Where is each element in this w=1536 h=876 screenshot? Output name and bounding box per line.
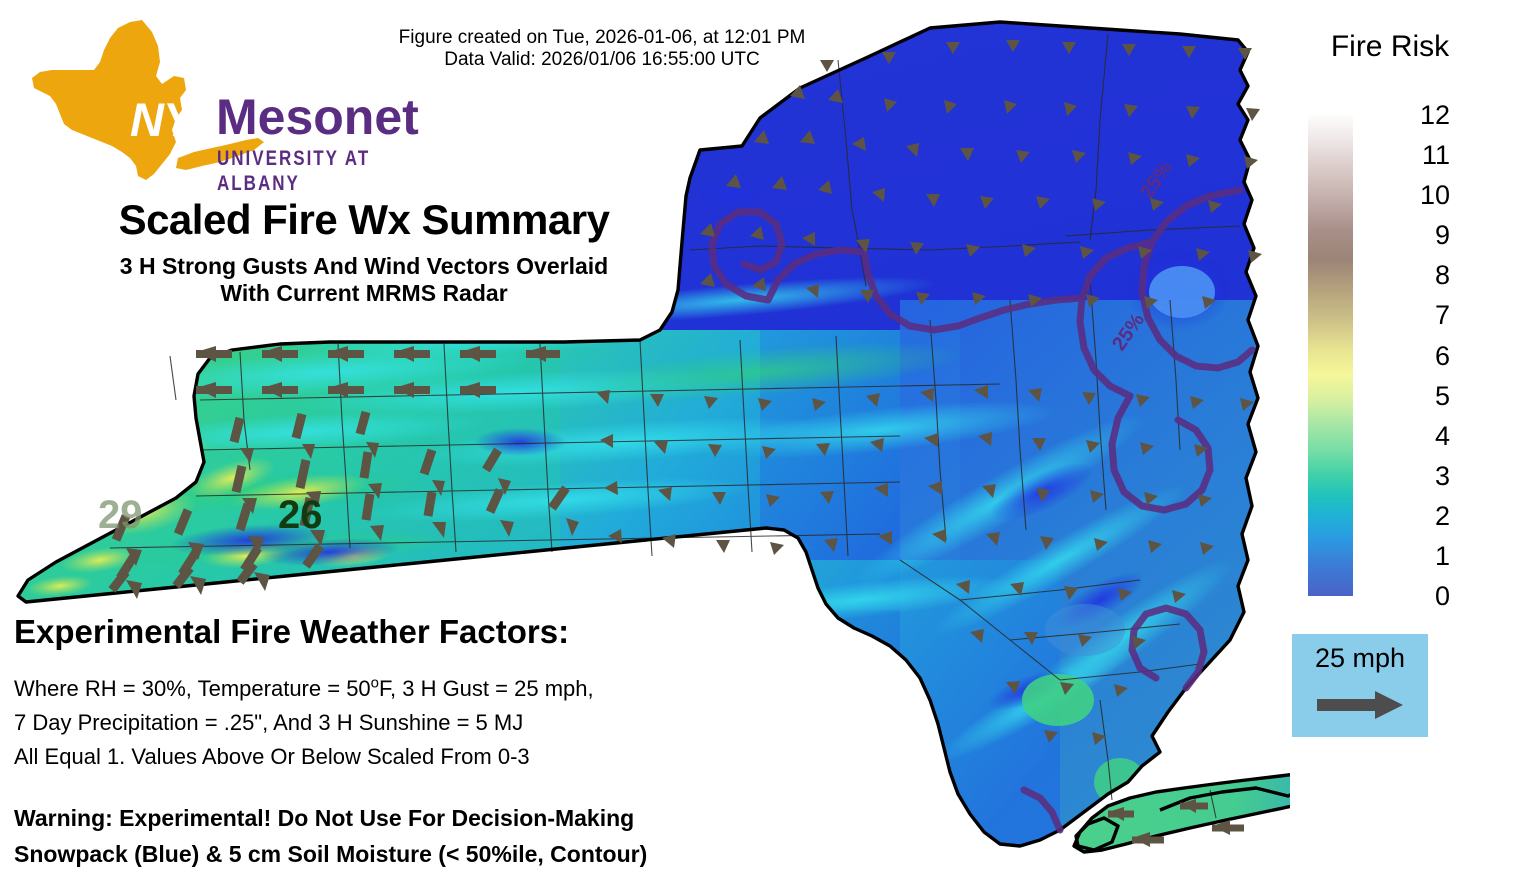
gust-label: 29 xyxy=(98,493,143,537)
factors-line-3: All Equal 1. Values Above Or Below Scale… xyxy=(14,740,594,774)
colorbar-tick-2: 2 xyxy=(1435,503,1450,530)
figure-timestamp-block: Figure created on Tue, 2026-01-06, at 12… xyxy=(352,27,852,72)
logo-university-text: UNIVERSITY AT ALBANY xyxy=(217,146,386,196)
factors-line-2: 7 Day Precipitation = .25", And 3 H Suns… xyxy=(14,706,594,740)
degree-symbol: o xyxy=(371,675,379,692)
colorbar-tick-4: 4 xyxy=(1435,423,1450,450)
wind-vector-legend: 25 mph xyxy=(1292,634,1428,737)
fire-risk-colorbar xyxy=(1308,115,1353,596)
colorbar-tick-8: 8 xyxy=(1435,262,1450,289)
colorbar-tick-7: 7 xyxy=(1435,302,1450,329)
subtitle-line-1: 3 H Strong Gusts And Wind Vectors Overla… xyxy=(34,253,694,280)
factors-line-1-b: F, 3 H Gust = 25 mph, xyxy=(379,676,594,701)
colorbar-tick-3: 3 xyxy=(1435,463,1450,490)
data-valid-line: Data Valid: 2026/01/06 16:55:00 UTC xyxy=(352,49,852,71)
colorbar-tick-12: 12 xyxy=(1420,102,1450,129)
warning-line-2: Snowpack (Blue) & 5 cm Soil Moisture (< … xyxy=(14,836,647,872)
colorbar-tick-labels: 1211109876543210 xyxy=(1400,104,1460,610)
page-subtitle: 3 H Strong Gusts And Wind Vectors Overla… xyxy=(34,253,694,307)
colorbar-tick-1: 1 xyxy=(1435,543,1450,570)
colorbar-tick-5: 5 xyxy=(1435,383,1450,410)
logo-nys-text: NYS xyxy=(130,96,224,143)
subtitle-line-2: With Current MRMS Radar xyxy=(34,280,694,307)
logo-mesonet-text: Mesonet xyxy=(216,92,419,142)
factors-body: Where RH = 30%, Temperature = 50oF, 3 H … xyxy=(14,672,594,774)
colorbar-tick-11: 11 xyxy=(1422,142,1450,169)
figure-created-line: Figure created on Tue, 2026-01-06, at 12… xyxy=(352,27,852,49)
wind-legend-label: 25 mph xyxy=(1292,643,1428,674)
warning-line-1: Warning: Experimental! Do Not Use For De… xyxy=(14,800,647,836)
warning-block: Warning: Experimental! Do Not Use For De… xyxy=(14,800,647,873)
page-title: Scaled Fire Wx Summary xyxy=(44,196,684,244)
nys-mesonet-logo: NYS Mesonet UNIVERSITY AT ALBANY xyxy=(26,18,386,183)
colorbar-tick-10: 10 xyxy=(1420,182,1450,209)
colorbar-tick-0: 0 xyxy=(1435,583,1450,610)
factors-line-1: Where RH = 30%, Temperature = 50oF, 3 H … xyxy=(14,672,594,706)
colorbar-tick-6: 6 xyxy=(1435,343,1450,370)
right-arrow-icon xyxy=(1317,690,1405,720)
factors-line-1-a: Where RH = 30%, Temperature = 50 xyxy=(14,676,371,701)
colorbar-tick-9: 9 xyxy=(1435,222,1450,249)
factors-heading: Experimental Fire Weather Factors: xyxy=(14,613,569,651)
gust-label: 26 xyxy=(278,493,323,537)
colorbar-title: Fire Risk xyxy=(1300,30,1480,64)
